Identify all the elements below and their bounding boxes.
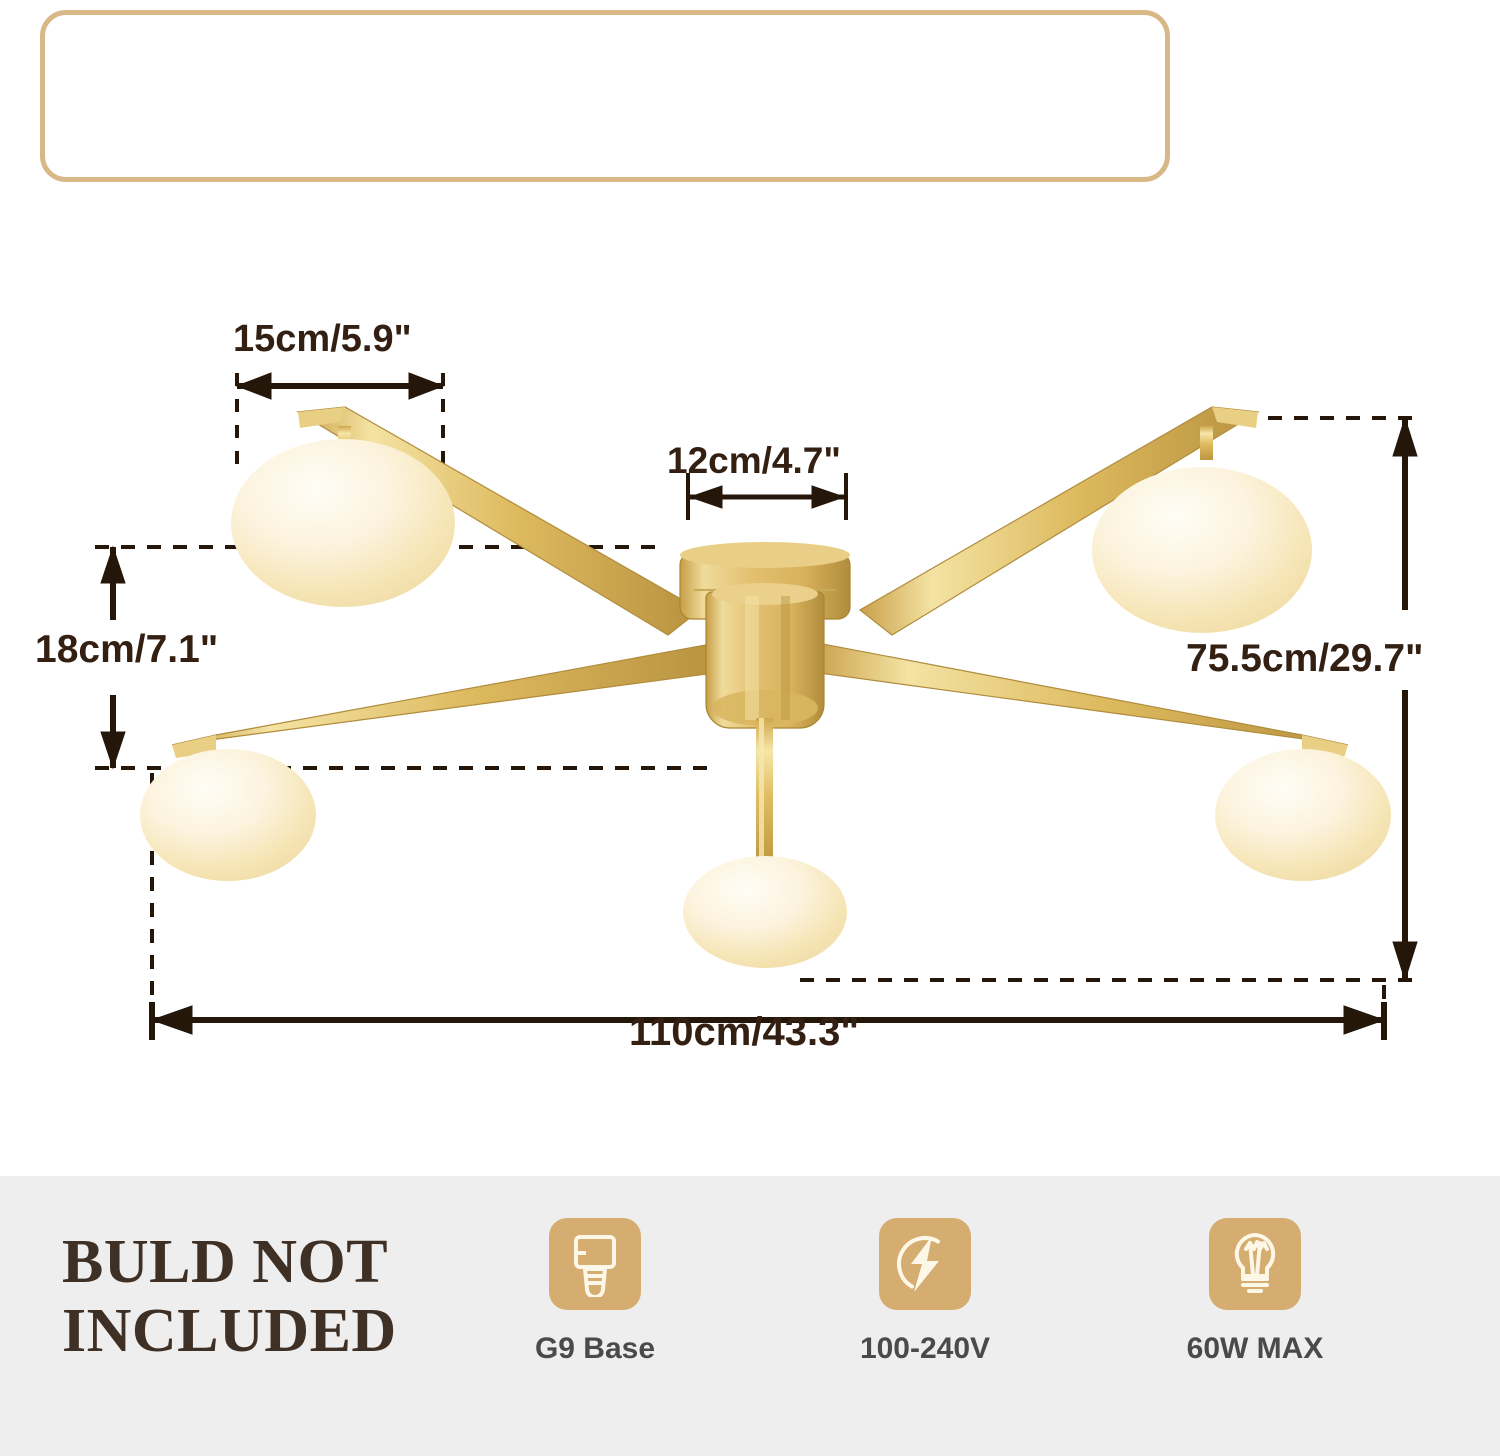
title-banner-fill: Product Dimension <box>54 24 1156 168</box>
spec-label-voltage: 100-240V <box>860 1332 990 1366</box>
dimension-label-arm-drop: 15cm/5.9" <box>233 318 412 361</box>
globe-top-right <box>1092 467 1312 633</box>
spec-item-voltage: 100-240V <box>810 1218 1040 1366</box>
dimension-label-overall-depth: 75.5cm/29.7" <box>1186 637 1424 681</box>
globe-left <box>140 749 316 881</box>
dimension-arrow-15cm <box>237 373 443 399</box>
globe-center-bottom <box>683 856 847 968</box>
spec-tile-wattage <box>1209 1218 1301 1310</box>
ceiling-light-fixture <box>140 407 1391 968</box>
light-bulb-icon <box>1227 1231 1283 1297</box>
spec-label-g9-base: G9 Base <box>535 1332 655 1366</box>
spec-tile-voltage <box>879 1218 971 1310</box>
spec-item-wattage: 60W MAX <box>1140 1218 1370 1366</box>
dimension-arrow-75-5cm <box>1393 418 1417 980</box>
globe-right <box>1215 749 1391 881</box>
title-banner: Product Dimension <box>40 10 1170 182</box>
bulb-base-icon <box>566 1231 624 1297</box>
spec-bar: BULD NOT INCLUDED G9 Base 100-240V <box>0 1176 1500 1456</box>
dimension-label-fixture-height: 18cm/7.1" <box>35 628 218 672</box>
globe-top-left <box>231 439 455 607</box>
dimension-label-overall-width: 110cm/43.3" <box>629 1010 859 1055</box>
page-title: Product Dimension <box>116 44 1094 148</box>
center-drop-rod <box>752 718 777 880</box>
dimension-arrow-12cm <box>688 486 846 508</box>
bulb-not-included-notice: BULD NOT INCLUDED <box>62 1228 482 1367</box>
dimension-label-canopy-width: 12cm/4.7" <box>667 440 841 482</box>
spec-item-g9-base: G9 Base <box>480 1218 710 1366</box>
center-hub <box>706 583 824 728</box>
lightning-bolt-icon <box>894 1233 956 1295</box>
spec-tile-g9-base <box>549 1218 641 1310</box>
spec-label-wattage: 60W MAX <box>1187 1332 1324 1366</box>
